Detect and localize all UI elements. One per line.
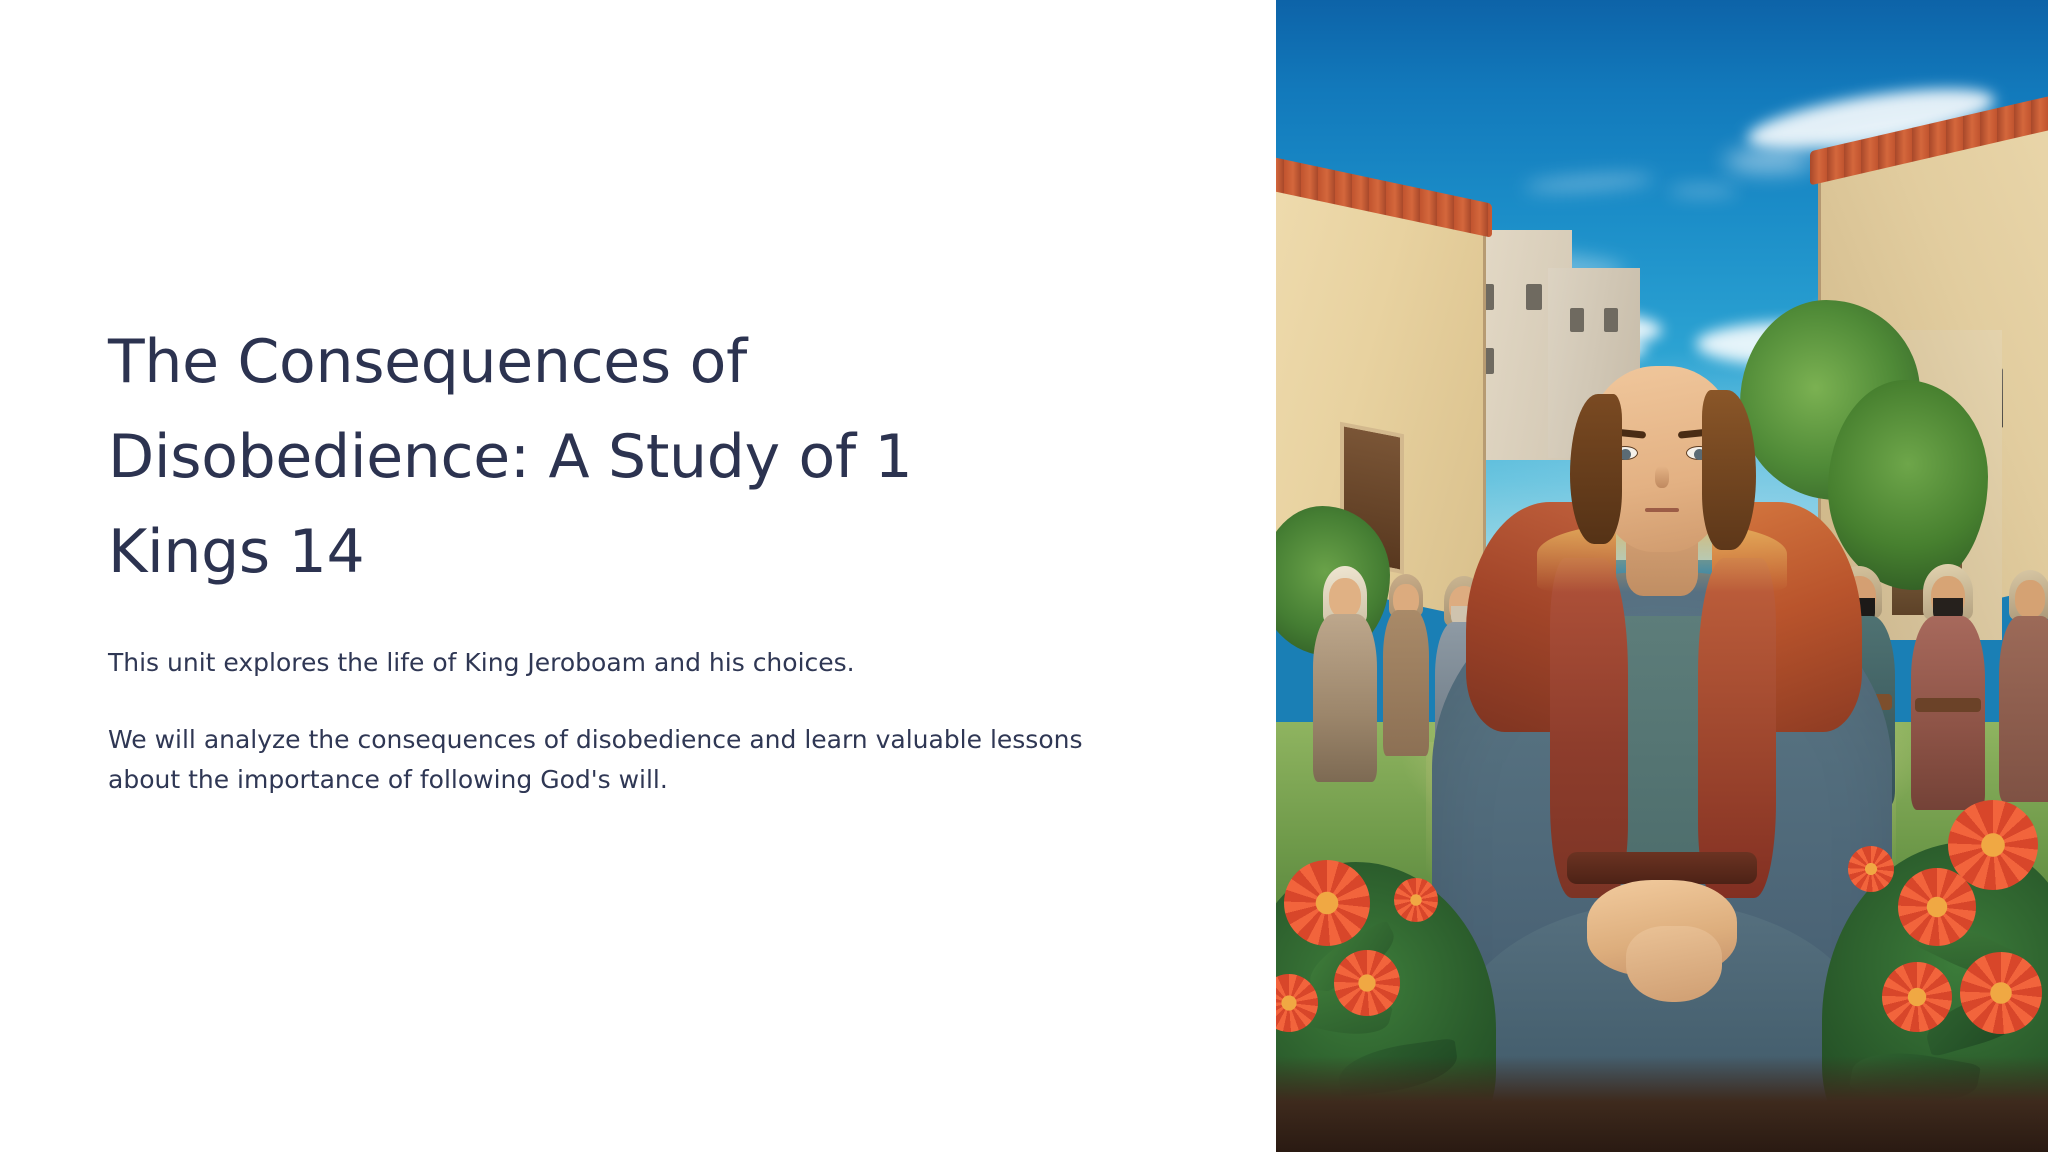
text-content-panel: The Consequences of Disobedience: A Stud… [0,0,1276,1152]
flower-icon [1276,974,1318,1032]
title-block: The Consequences of Disobedience: A Stud… [108,315,1156,643]
page-title: The Consequences of Disobedience: A Stud… [108,315,1008,599]
body-block: This unit explores the life of King Jero… [108,643,1118,801]
slide-root: The Consequences of Disobedience: A Stud… [0,0,2048,1152]
cloud-icon [1724,150,1814,172]
flower-icon [1394,878,1438,922]
flower-icon [1848,846,1894,892]
slide-illustration [1276,0,2048,1152]
soil-foreground [1276,1056,2048,1152]
bush-foliage [1828,380,1988,590]
clasped-hands-overlap [1626,926,1722,1002]
objective-paragraph: We will analyze the consequences of diso… [108,720,1118,801]
figure-mouth [1645,508,1679,512]
villager-figure [1910,564,1986,808]
flower-icon [1960,952,2042,1034]
villager-figure [1998,570,2048,800]
villager-figure [1382,574,1430,754]
flower-icon [1882,962,1952,1032]
flower-icon [1898,868,1976,946]
intro-paragraph: This unit explores the life of King Jero… [108,643,1118,684]
figure-sash-right [1698,558,1776,898]
villager-figure [1312,566,1378,780]
cloud-icon [1668,186,1738,196]
flower-icon [1284,860,1370,946]
flower-icon [1334,950,1400,1016]
figure-sash-left [1550,558,1628,898]
